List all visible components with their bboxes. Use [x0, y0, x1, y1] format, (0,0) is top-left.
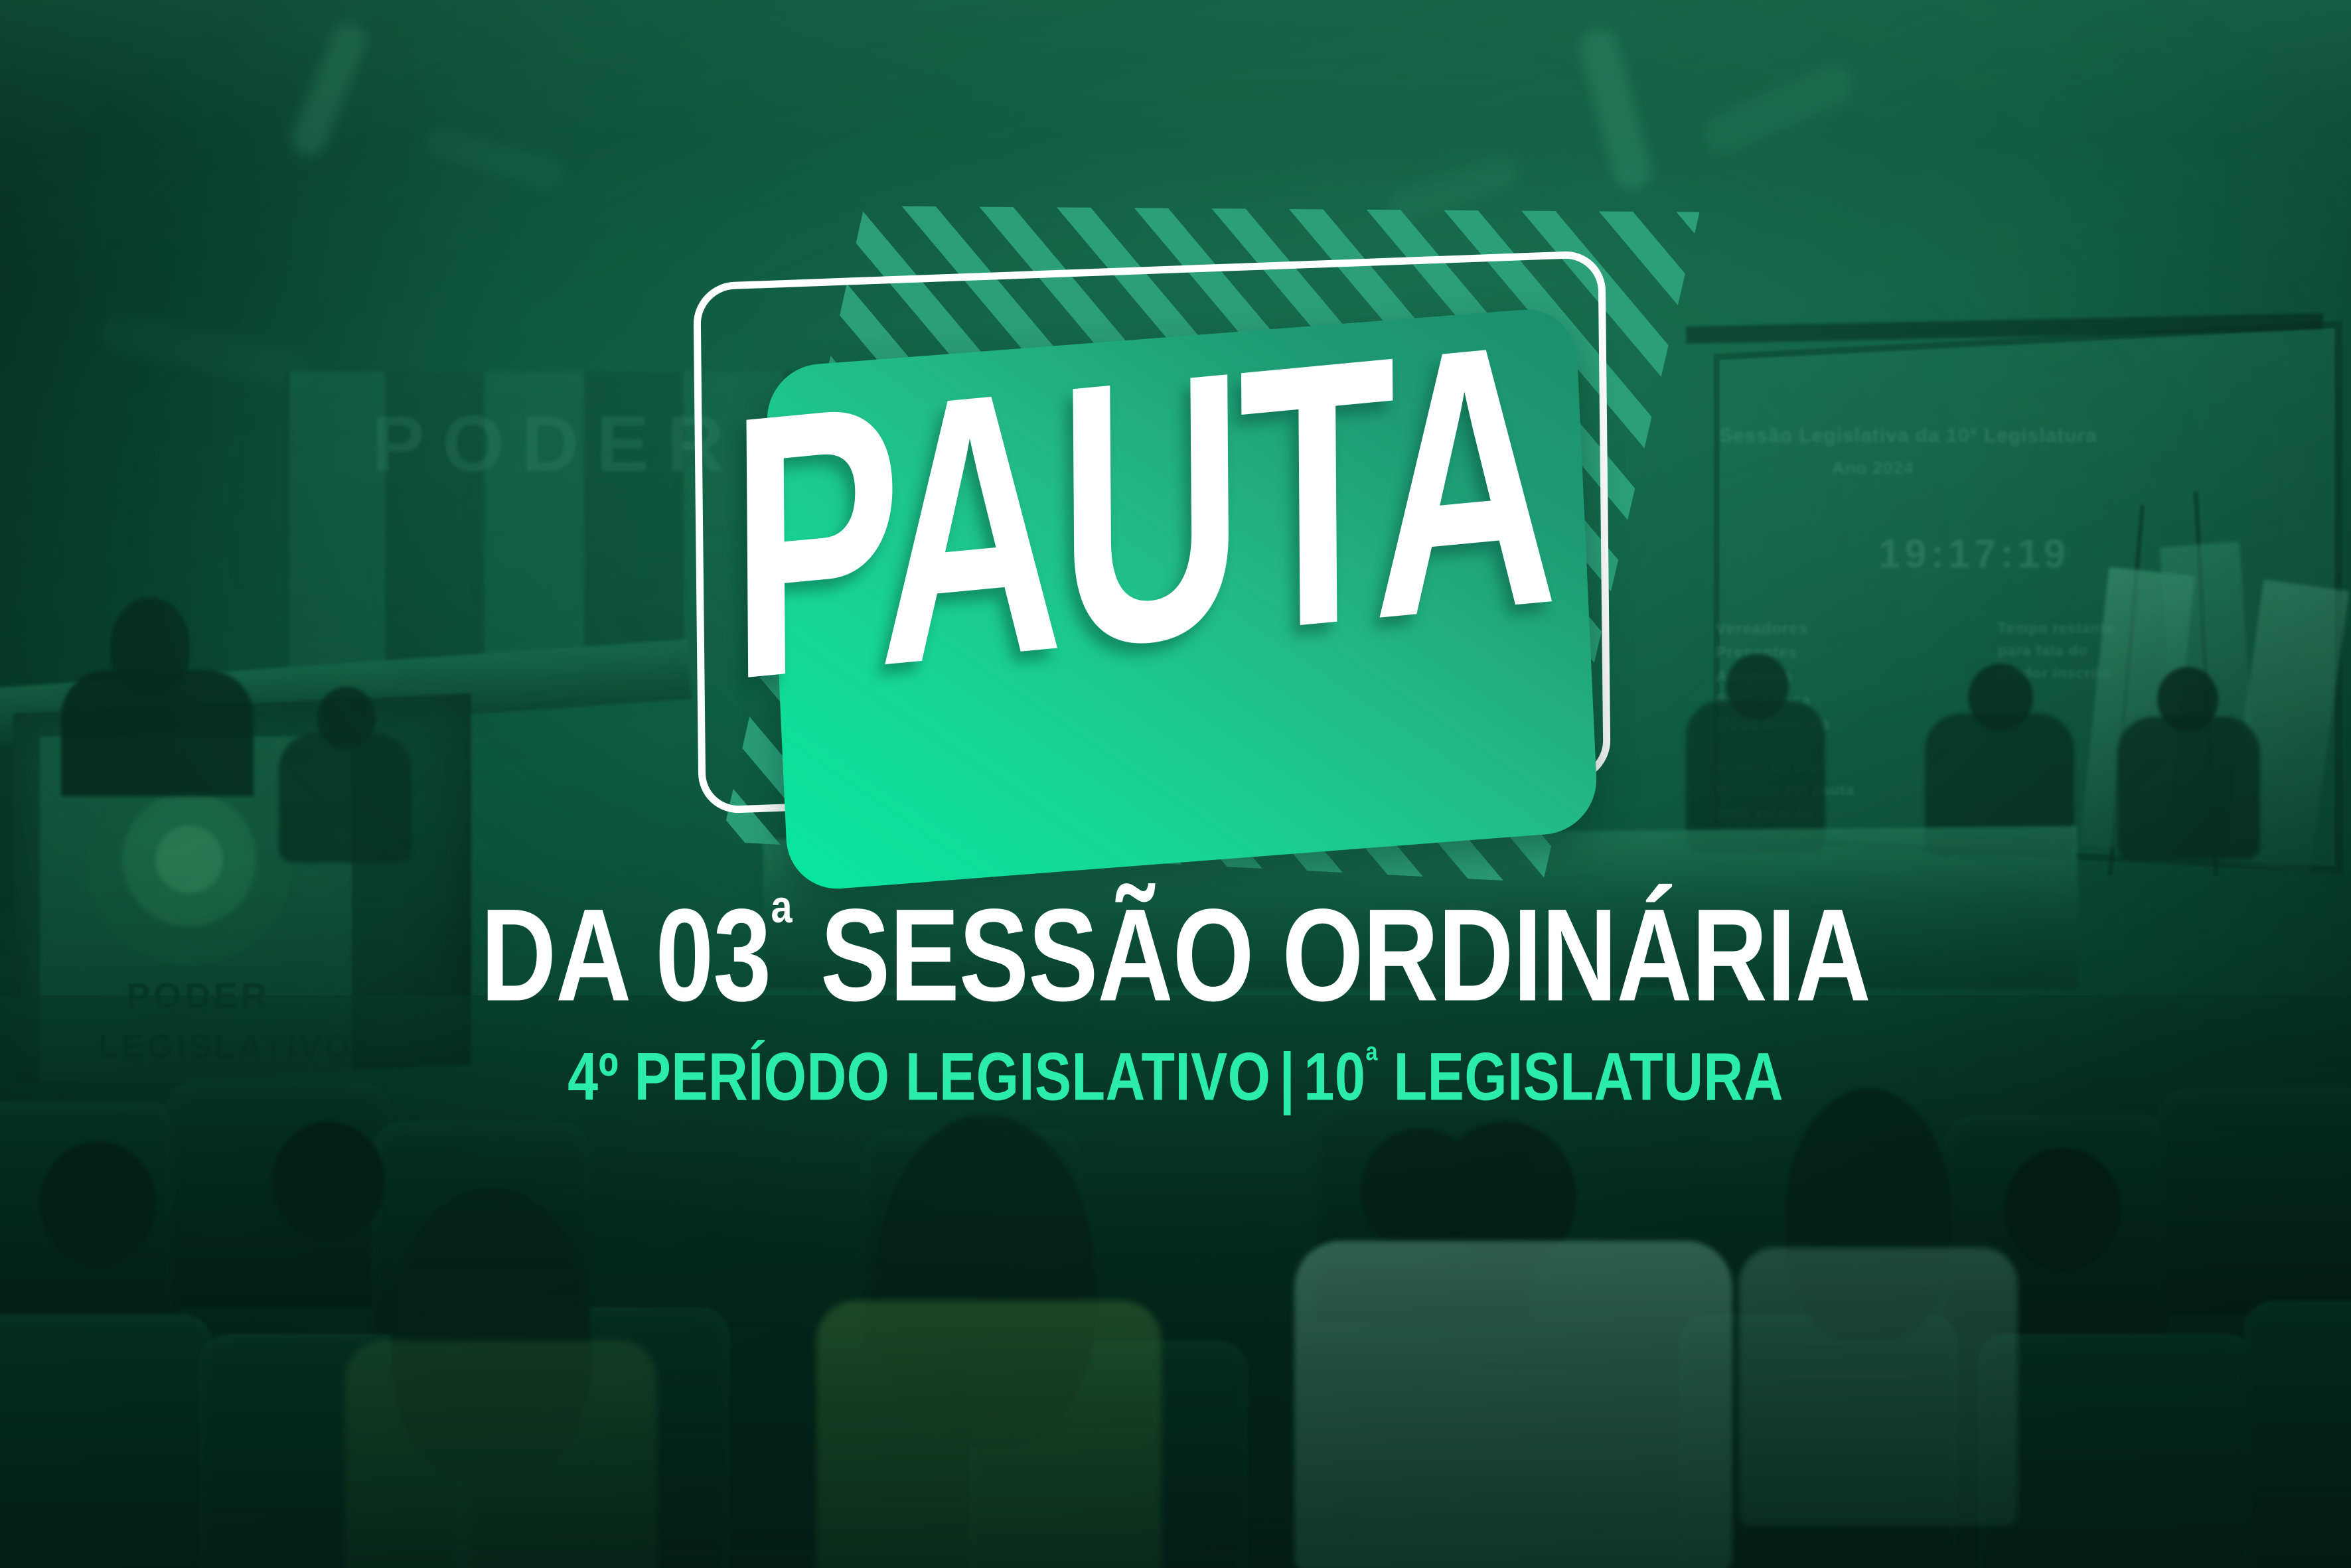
headline-ordinal: ª	[771, 883, 792, 965]
subline-legislature-label: LEGISLATURA	[1378, 1038, 1783, 1115]
session-subline: 4º PERÍODO LEGISLATIVO|10ª LEGISLATURA	[70, 1042, 2280, 1111]
pauta-logo-lockup: PAUTA	[664, 219, 1739, 909]
subline-legislature-ordinal: ª	[1365, 1038, 1378, 1084]
subline-period-number: 4º	[568, 1038, 619, 1115]
headline-suffix: SESSÃO ORDINÁRIA	[792, 881, 1870, 1029]
headline-block: DA 03ª SESSÃO ORDINÁRIA 4º PERÍODO LEGIS…	[0, 897, 2351, 1106]
subline-period-label: PERÍODO LEGISLATIVO	[619, 1038, 1270, 1115]
subline-legislature-number: 10	[1304, 1038, 1365, 1115]
pauta-wordmark-text: PAUTA	[729, 319, 1554, 703]
subline-separator: |	[1270, 1038, 1304, 1115]
session-headline: DA 03ª SESSÃO ORDINÁRIA	[70, 887, 2280, 1021]
poster-canvas: PODER Sessão Legislativa da 10ª Legislat…	[0, 0, 2351, 1568]
headline-prefix: DA 03	[481, 881, 771, 1029]
pauta-wordmark: PAUTA	[783, 291, 1499, 731]
